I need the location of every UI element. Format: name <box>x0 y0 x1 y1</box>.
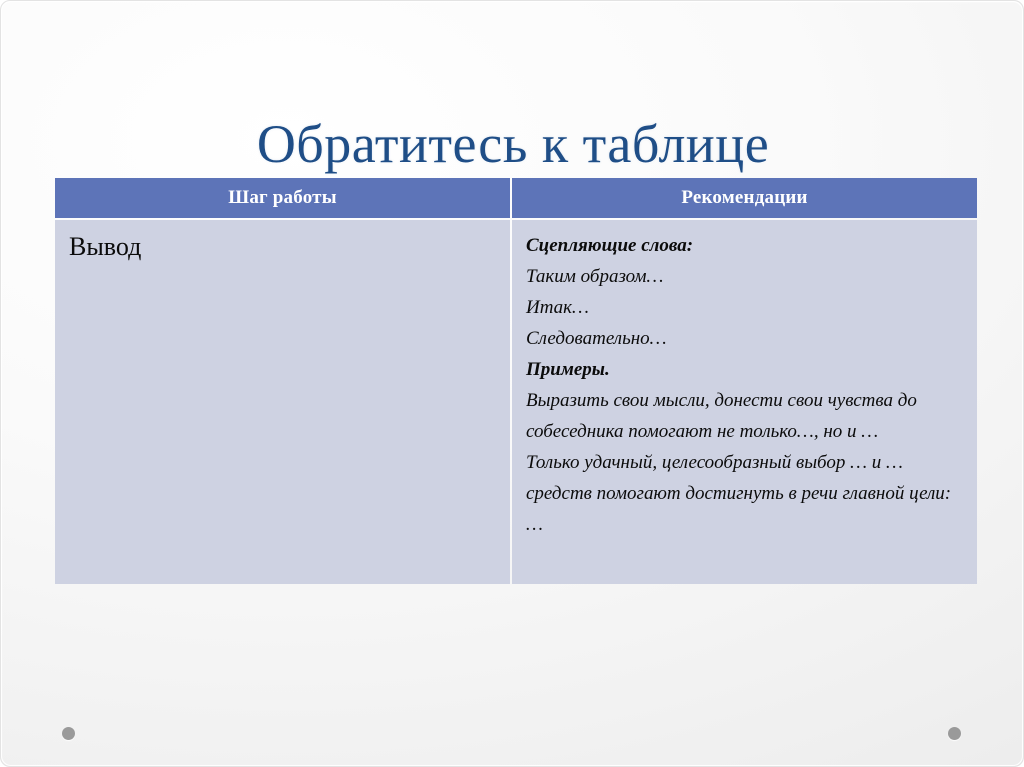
recommendation-example-2: Только удачный, целесообразный выбор … и… <box>526 447 963 540</box>
recommendation-item-3: Следовательно… <box>526 323 963 354</box>
recommendations-table: Шаг работы Рекомендации Вывод Сцепляющие… <box>53 176 979 586</box>
table-row: Вывод Сцепляющие слова: Таким образом… И… <box>55 220 977 584</box>
bullet-dot-left-icon <box>62 727 75 740</box>
column-header-recommendations: Рекомендации <box>512 178 977 218</box>
table-header: Шаг работы Рекомендации <box>55 178 977 218</box>
table-body: Вывод Сцепляющие слова: Таким образом… И… <box>55 220 977 584</box>
table-header-row: Шаг работы Рекомендации <box>55 178 977 218</box>
recommendations-table-wrapper: Шаг работы Рекомендации Вывод Сцепляющие… <box>53 176 973 586</box>
recommendation-lead-examples: Примеры. <box>526 354 963 385</box>
recommendation-item-2: Итак… <box>526 292 963 323</box>
recommendation-lead-linking-words: Сцепляющие слова: <box>526 230 963 261</box>
recommendation-item-1: Таким образом… <box>526 261 963 292</box>
recommendation-example-1: Выразить свои мысли, донести свои чувств… <box>526 385 963 447</box>
cell-step-name: Вывод <box>55 220 510 584</box>
slide-canvas: Обратитесь к таблице Шаг работы Рекоменд… <box>0 0 1024 767</box>
column-header-step: Шаг работы <box>55 178 510 218</box>
bullet-dot-right-icon <box>948 727 961 740</box>
cell-recommendations: Сцепляющие слова: Таким образом… Итак… С… <box>512 220 977 584</box>
page-title: Обратитесь к таблице <box>1 113 1024 175</box>
